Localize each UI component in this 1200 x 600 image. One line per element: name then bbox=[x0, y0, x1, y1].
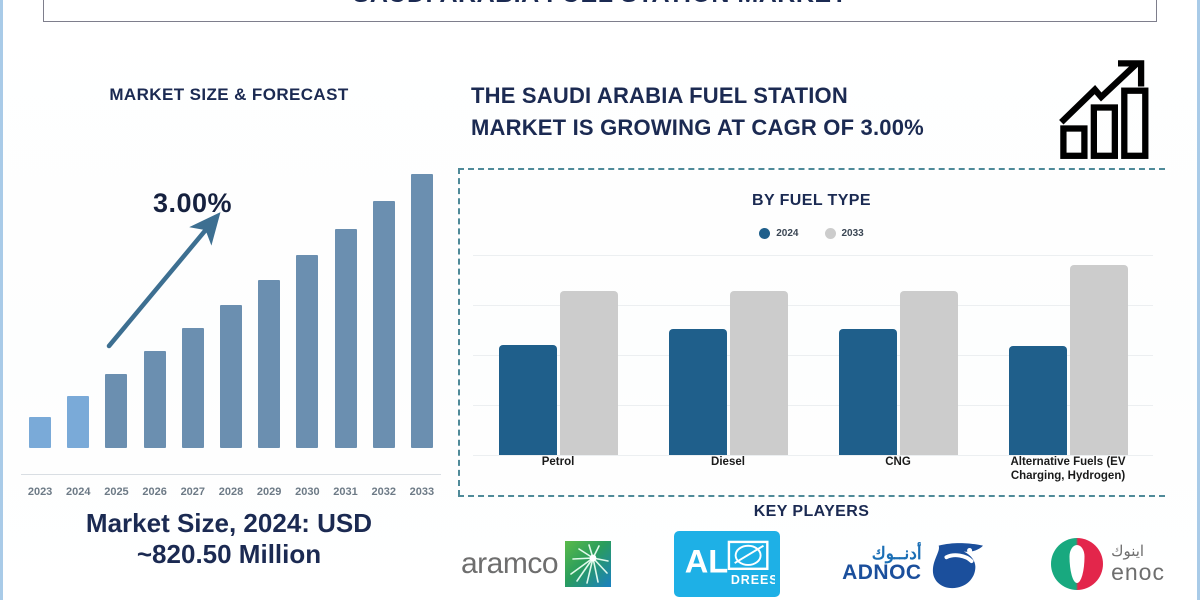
key-players-row: aramco AL bbox=[461, 528, 1165, 600]
aramco-wordmark: aramco bbox=[461, 547, 558, 581]
infographic-canvas: SAUDI ARABIA FUEL STATION MARKET MARKET … bbox=[0, 0, 1200, 600]
vertical-divider bbox=[458, 168, 460, 496]
svg-text:DREES: DREES bbox=[730, 573, 774, 587]
adnoc-wordmark: أدنــوك ADNOC bbox=[842, 545, 922, 583]
fuel-type-legend: 20242033 bbox=[458, 228, 1165, 239]
fuel-type-bar bbox=[1009, 346, 1067, 455]
legend-item[interactable]: 2024 bbox=[759, 228, 798, 239]
fuel-type-bar-chart bbox=[473, 255, 1153, 455]
legend-label: 2024 bbox=[776, 228, 798, 239]
enoc-flame-icon bbox=[1051, 538, 1103, 590]
market-size-line-1: Market Size, 2024: USD bbox=[3, 508, 455, 539]
market-size-forecast-panel: MARKET SIZE & FORECAST 3.00% 20232024202… bbox=[3, 60, 455, 600]
key-players-title: KEY PLAYERS bbox=[458, 503, 1165, 521]
fuel-type-bar bbox=[839, 329, 897, 455]
cagr-statement-line-2: MARKET IS GROWING AT CAGR OF 3.00% bbox=[471, 112, 1071, 144]
adnoc-arabic-text: أدنــوك bbox=[842, 545, 922, 562]
market-size-line-2: ~820.50 Million bbox=[3, 539, 455, 570]
legend-color-dot bbox=[759, 228, 770, 239]
fuel-type-bar bbox=[499, 345, 557, 455]
legend-item[interactable]: 2033 bbox=[825, 228, 864, 239]
al-drees-badge: AL DREES bbox=[674, 531, 780, 597]
adnoc-falcon-icon bbox=[927, 536, 989, 592]
title-box: SAUDI ARABIA FUEL STATION MARKET bbox=[43, 0, 1157, 22]
fuel-type-bar bbox=[669, 329, 727, 455]
growth-bar-chart-arrow-icon bbox=[1055, 55, 1160, 160]
fuel-type-bar bbox=[730, 291, 788, 455]
forecast-bar-chart: 2023202420252026202720282029203020312032… bbox=[21, 170, 441, 500]
enoc-english-text: enoc bbox=[1111, 560, 1165, 584]
logo-al-drees: AL DREES bbox=[674, 533, 780, 595]
fuel-type-category-label: Diesel bbox=[643, 455, 813, 469]
fuel-type-bar bbox=[1070, 265, 1128, 455]
aramco-starburst-icon bbox=[565, 541, 611, 587]
legend-color-dot bbox=[825, 228, 836, 239]
fuel-type-category-label: Petrol bbox=[473, 455, 643, 469]
page-title: SAUDI ARABIA FUEL STATION MARKET bbox=[353, 0, 848, 9]
fuel-type-category-label: Alternative Fuels (EV Charging, Hydrogen… bbox=[983, 455, 1153, 484]
fuel-type-bars bbox=[473, 255, 1153, 455]
legend-label: 2033 bbox=[842, 228, 864, 239]
fuel-type-category-label: CNG bbox=[813, 455, 983, 469]
enoc-wordmark: اينوك enoc bbox=[1111, 544, 1165, 584]
cagr-statement-line-1: THE SAUDI ARABIA FUEL STATION bbox=[471, 80, 1071, 112]
horizontal-divider-top bbox=[458, 168, 1165, 170]
fuel-type-bar bbox=[560, 291, 618, 455]
left-panel-heading: MARKET SIZE & FORECAST bbox=[3, 85, 455, 105]
svg-text:AL: AL bbox=[684, 543, 728, 580]
adnoc-english-text: ADNOC bbox=[842, 562, 922, 583]
cagr-statement: THE SAUDI ARABIA FUEL STATION MARKET IS … bbox=[471, 80, 1071, 144]
logo-aramco: aramco bbox=[461, 533, 611, 595]
logo-enoc: اينوك enoc bbox=[1051, 533, 1165, 595]
market-size-callout: Market Size, 2024: USD ~820.50 Million bbox=[3, 508, 455, 569]
fuel-type-title: BY FUEL TYPE bbox=[458, 192, 1165, 210]
horizontal-divider-bottom bbox=[458, 495, 1165, 497]
growth-trend-arrow-icon bbox=[21, 170, 441, 500]
logo-adnoc: أدنــوك ADNOC bbox=[842, 533, 989, 595]
fuel-type-category-labels: PetrolDieselCNGAlternative Fuels (EV Cha… bbox=[473, 455, 1153, 495]
enoc-arabic-text: اينوك bbox=[1111, 544, 1165, 560]
fuel-type-bar bbox=[900, 291, 958, 455]
